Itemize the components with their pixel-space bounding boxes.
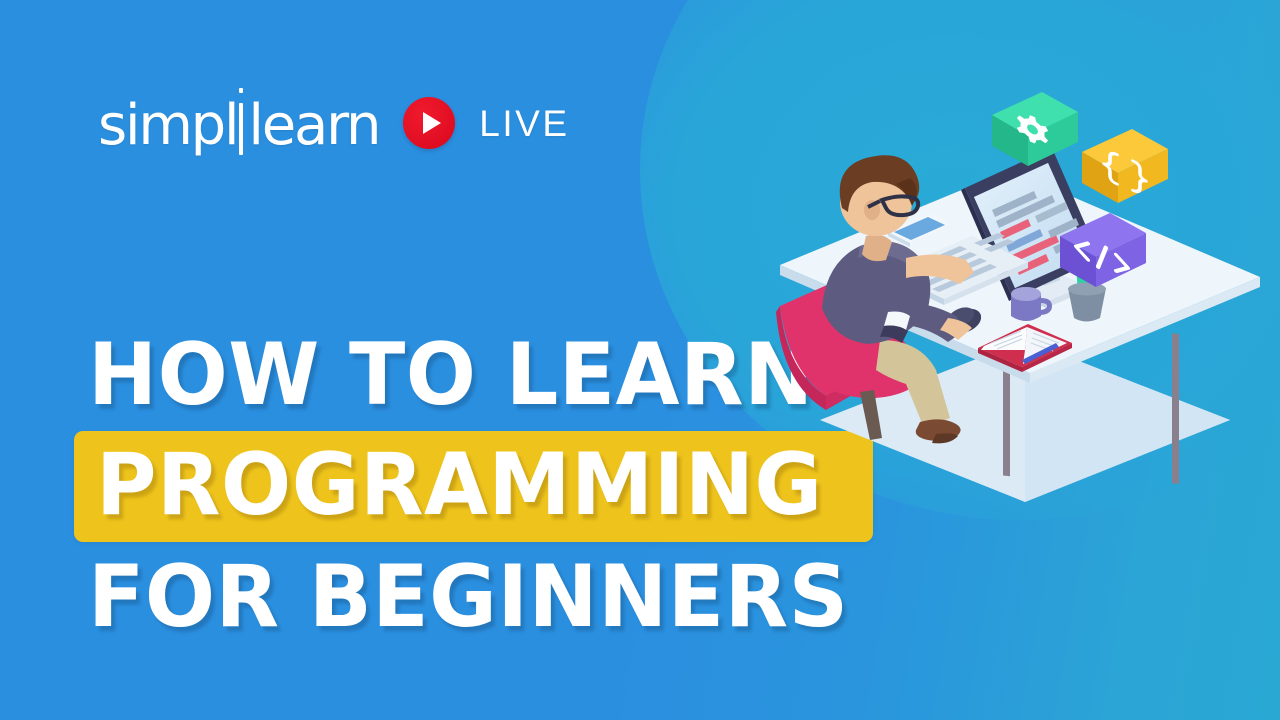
logo-i-divider [239,103,243,155]
title-line-2: PROGRAMMING [96,445,823,527]
logo-text-before: simpl [98,98,237,154]
gear-icon[interactable] [992,92,1078,166]
simplilearn-logo[interactable]: simpl learn [98,92,379,154]
title-block: HOW TO LEARN PROGRAMMING FOR BEGINNERS [88,335,828,639]
play-icon[interactable] [403,97,455,149]
brand-header: simpl learn LIVE [98,92,570,154]
logo-text-after: learn [248,98,379,154]
video-thumbnail: simpl learn LIVE HOW TO LEARN PROGRAMMIN… [0,0,1280,720]
title-line-3: FOR BEGINNERS [88,557,798,639]
curly-braces-icon[interactable] [1082,129,1168,203]
title-highlight-box: PROGRAMMING [74,431,873,543]
title-line-1: HOW TO LEARN [88,335,798,417]
developer-at-desk-illustration [760,40,1280,510]
live-label: LIVE [479,105,569,142]
play-triangle [423,112,441,134]
